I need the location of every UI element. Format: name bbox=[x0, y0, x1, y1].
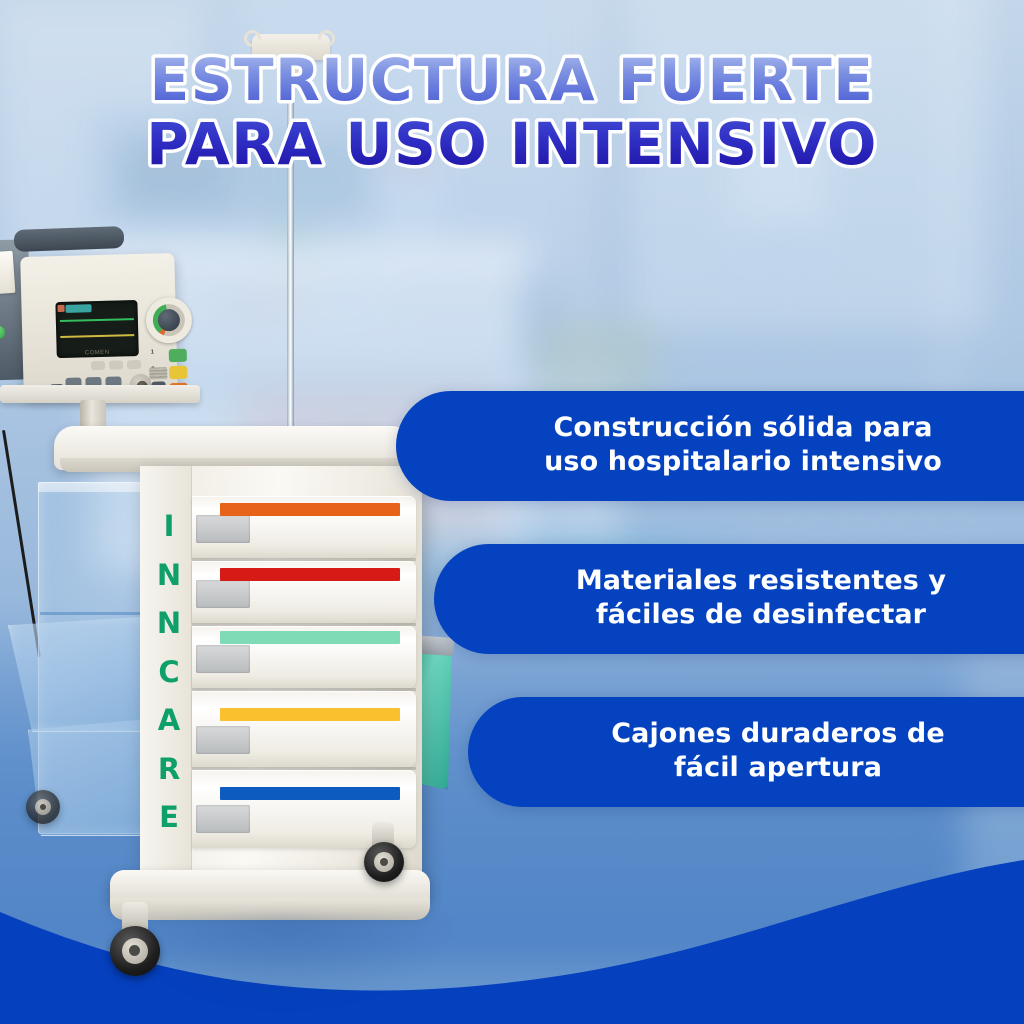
feature-pill-durable-drawers[interactable]: Cajones duraderos de fácil apertura bbox=[468, 697, 1024, 807]
page-title: ESTRUCTURA FUERTE ESTRUCTURA FUERTE PARA… bbox=[0, 48, 1024, 188]
feature-pill-2-line-2: fáciles de desinfectar bbox=[576, 598, 946, 632]
headline-line-2: PARA USO INTENSIVO bbox=[146, 110, 878, 178]
feature-pill-1-line-2: uso hospitalario intensivo bbox=[544, 445, 942, 479]
feature-pill-3-line-1: Cajones duraderos de bbox=[611, 717, 945, 751]
feature-pill-solid-construction[interactable]: Construcción sólida para uso hospitalari… bbox=[396, 391, 1024, 501]
headline-graphic: ESTRUCTURA FUERTE ESTRUCTURA FUERTE PARA… bbox=[0, 48, 1024, 188]
feature-pill-1-line-1: Construcción sólida para bbox=[544, 411, 942, 445]
feature-pill-resistant-materials[interactable]: Materiales resistentes y fáciles de desi… bbox=[434, 544, 1024, 654]
promo-poster: 1 2 3 COMEN bbox=[0, 0, 1024, 1024]
feature-pill-2-line-1: Materiales resistentes y bbox=[576, 564, 946, 598]
feature-pill-3-line-2: fácil apertura bbox=[611, 751, 945, 785]
headline-line-1: ESTRUCTURA FUERTE bbox=[150, 48, 875, 114]
